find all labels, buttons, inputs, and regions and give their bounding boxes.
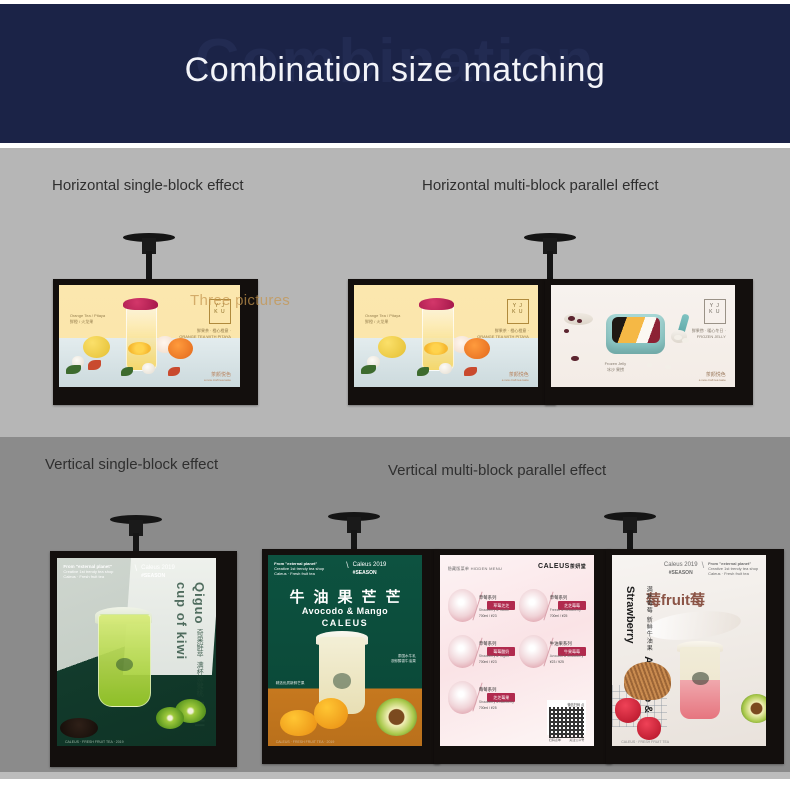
menu-item-en: Avocado & Strawberry — [550, 654, 587, 658]
menu-item-price: 700ml / ¥23 — [479, 614, 516, 618]
cup-logo-badge — [333, 673, 351, 688]
basket-icon — [624, 662, 670, 700]
screen-surface: From "external planet" Creative 1st tren… — [57, 558, 216, 746]
ad-logo-box: Y JK U — [704, 299, 726, 324]
menu-item-price: 700ml / ¥23 — [479, 660, 516, 664]
ad-kiwi-poster: From "external planet" Creative 1st tren… — [57, 558, 216, 746]
ad-hidden-menu-poster: 隐藏版菜单 HIDDEN MENU CALEUS茶妍堂 草莓系列 草莓芝芝 St… — [440, 555, 594, 746]
pitaya-topping-icon — [419, 298, 454, 310]
poster-header-left: From "external planet" Creative 1st tren… — [63, 564, 130, 579]
menu-head-note: 隐藏版菜单 HIDDEN MENU — [448, 566, 502, 572]
pearl-icon — [665, 365, 671, 369]
screen-surface: Orange Tea / Pitaya 鲜橙 / 火龙果 Y JK U 鲜果茶 … — [354, 285, 538, 387]
poster-title-cn: 牛油果芒芒 — [268, 586, 422, 607]
display-vertical-multi-3[interactable]: Caleus 2019 #SEASON \ From "external pla… — [606, 549, 784, 764]
menu-item-en: Strawberry & Yakult — [479, 608, 516, 612]
display-vertical-single[interactable]: From "external planet" Creative 1st tren… — [50, 551, 237, 767]
poster-footer: CALEUS · FRESH FRUIT TEA · 2019 — [276, 740, 335, 744]
poster-header-slash: \ — [135, 564, 138, 573]
poster-header-slash: \ — [346, 561, 349, 577]
poster-header: From "external planet" Creative 1st tren… — [274, 561, 416, 577]
caption-vertical-single: Vertical single-block effect — [45, 455, 275, 474]
watermark-three-pictures: Three pictures — [190, 292, 290, 309]
ad-caption-note: Frozen Jelly 冰沙 果捞 — [595, 361, 635, 373]
avocado-half-icon — [376, 698, 418, 736]
poster-header: Caleus 2019 #SEASON \ From "external pla… — [637, 561, 760, 577]
poster-note-right: 泰国水牛乳 浓郁醇香牛油果 — [376, 654, 416, 664]
litchi-icon — [142, 363, 155, 374]
menu-qr-label-1: 扫码点单 — [549, 738, 561, 742]
screenshot-root: Combination Combination size matching Ho… — [0, 0, 790, 790]
page-title: Combination size matching — [0, 51, 790, 90]
screen-surface: Y JK U 鲜果捞 · 暖心冬日 · FROZEN JELLY Frozen … — [551, 285, 735, 387]
poster-note-left: 精选优质新鲜芒果 — [276, 681, 322, 686]
ad-brand-mark: 茶颜悦色 a new craft tea taste — [204, 371, 231, 382]
poster-header-left: From "external planet" Creative 1st tren… — [274, 561, 342, 577]
kiwi-slice-icon — [156, 707, 185, 730]
menu-item-en: Freeze & Strawberry — [550, 608, 587, 612]
poster-footer: CALEUS · FRESH FRUIT TEA · 2019 — [65, 740, 124, 744]
menu-item-en: Strawberry & Blueberry — [479, 700, 516, 704]
poster-title-en: Avocodo & Mango — [268, 606, 422, 616]
avocado-half-icon — [741, 694, 766, 723]
display-vertical-multi-1[interactable]: From "external planet" Creative 1st tren… — [262, 549, 440, 764]
poster-brand: CALEUS — [268, 618, 422, 628]
screen-surface: 隐藏版菜单 HIDDEN MENU CALEUS茶妍堂 草莓系列 草莓芝芝 St… — [440, 555, 594, 746]
poster-header-left: Caleus 2019 #SEASON — [664, 561, 698, 577]
ad-brand-mark: 茶颜悦色 a new craft tea taste — [502, 371, 529, 382]
poster-header-right: Caleus 2019 #SEASON — [141, 564, 175, 580]
menu-item: 莓莓系列 芝芝莓果 Strawberry & Blueberry 700ml /… — [448, 681, 516, 713]
menu-item-price: 700ml / ¥25 — [550, 614, 587, 618]
menu-item-en: Strawberry & Yogurt — [479, 654, 516, 658]
drink-cup-icon — [126, 305, 157, 370]
ad-left-note: Orange Tea / Pitaya 鲜橙 / 火龙果 — [365, 313, 420, 325]
lemon-fruit-icon — [83, 336, 110, 358]
menu-item: 草莓系列 芝芝莓莓 Freeze & Strawberry 700ml / ¥2… — [519, 589, 587, 621]
lemon-fruit-icon — [378, 336, 406, 358]
cup-logo-badge — [116, 658, 133, 671]
ad-brand-mark: 茶颜悦色 a new craft tea taste — [699, 371, 726, 382]
menu-brand: CALEUS茶妍堂 — [538, 563, 586, 570]
caption-horizontal-single: Horizontal single-block effect — [52, 176, 282, 195]
mango-fruit-icon — [280, 710, 317, 737]
red-bean-icon — [568, 316, 575, 321]
red-bean-icon — [571, 356, 578, 361]
display-vertical-multi-2[interactable]: 隐藏版菜单 HIDDEN MENU CALEUS茶妍堂 草莓系列 草莓芝芝 St… — [434, 549, 612, 764]
pearl-icon — [647, 363, 653, 367]
menu-item-price: 700ml / ¥25 — [479, 706, 516, 710]
menu-item: 牛油果系列 牛果莓莓 Avocado & Strawberry ¥23 / ¥2… — [519, 635, 587, 667]
leaf-icon — [88, 360, 101, 369]
menu-item: 草莓系列 莓莓酸奶 Strawberry & Yogurt 700ml / ¥2… — [448, 635, 516, 667]
drink-cup-icon — [422, 305, 453, 370]
menu-qr-code: 微信扫码 点 扫码点单 关注公众号 — [547, 700, 586, 735]
poster-footer: CALEUS · FRESH FRUIT TEA — [621, 740, 669, 744]
red-bean-icon — [564, 329, 570, 333]
qr-code-icon — [549, 707, 584, 738]
ad-left-note: Orange Tea / Pitaya 鲜橙 / 火龙果 — [70, 313, 124, 325]
ad-mint-bowl: Y JK U 鲜果捞 · 暖心冬日 · FROZEN JELLY Frozen … — [551, 285, 735, 387]
page-banner: Combination Combination size matching — [0, 4, 790, 143]
ad-lemon-orange: Orange Tea / Pitaya 鲜橙 / 火龙果 Y JK U 鲜果茶 … — [354, 285, 538, 387]
menu-item: 草莓系列 草莓芝芝 Strawberry & Yakult 700ml / ¥2… — [448, 589, 516, 621]
menu-qr-label-2: 关注公众号 — [569, 738, 584, 742]
milk-splash-shape — [645, 607, 743, 644]
red-bean-icon — [577, 319, 583, 323]
leaf-icon — [66, 365, 80, 374]
footer-strip — [0, 772, 790, 779]
screen-surface: Caleus 2019 #SEASON \ From "external pla… — [612, 555, 766, 746]
ad-avocado-mango-poster: From "external planet" Creative 1st tren… — [268, 555, 422, 746]
poster-header-slash: \ — [702, 561, 705, 577]
caption-vertical-multi: Vertical multi-block parallel effect — [388, 461, 718, 480]
ad-logo-box: Y JK U — [507, 299, 529, 324]
pitaya-topping-icon — [123, 298, 157, 310]
ad-right-note: 鲜果捞 · 暖心冬日 · FROZEN JELLY — [652, 328, 726, 340]
caption-horizontal-multi: Horizontal multi-block parallel effect — [422, 176, 742, 195]
poster-header-right: From "external planet" Creative 1st tren… — [708, 561, 760, 577]
poster-header: From "external planet" Creative 1st tren… — [63, 564, 209, 580]
display-horizontal-multi-right[interactable]: Y JK U 鲜果捞 · 暖心冬日 · FROZEN JELLY Frozen … — [545, 279, 753, 405]
strawberry-icon — [637, 717, 662, 740]
screen-surface: From "external planet" Creative 1st tren… — [268, 555, 422, 746]
display-horizontal-multi-left[interactable]: Orange Tea / Pitaya 鲜橙 / 火龙果 Y JK U 鲜果茶 … — [348, 279, 556, 405]
menu-item-price: ¥23 / ¥25 — [550, 660, 587, 664]
ad-avocado-strawberry-poster: Caleus 2019 #SEASON \ From "external pla… — [612, 555, 766, 746]
litchi-icon — [439, 363, 452, 374]
poster-header-right: Caleus 2019 #SEASON — [353, 561, 387, 577]
topping-bowl-icon — [60, 718, 98, 739]
cup-logo-badge — [692, 672, 709, 685]
mango-fruit-icon — [314, 698, 348, 729]
